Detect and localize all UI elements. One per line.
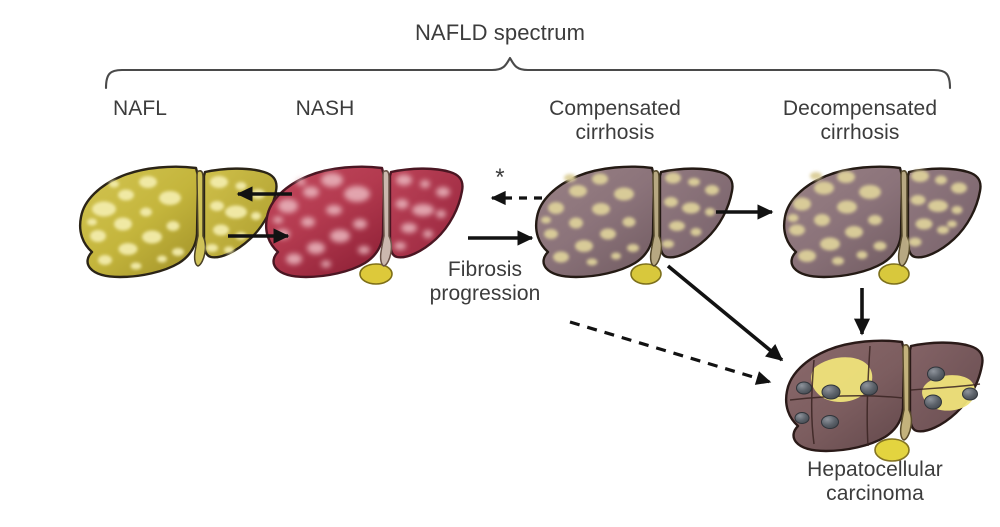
gallbladder [631,264,661,284]
liver-nafl [80,167,276,277]
arrow-compensated-to-hcc [668,266,782,360]
liver-decompensated-cirrhosis [784,167,980,284]
nafld-spectrum-brace [106,58,950,88]
gallbladder [879,264,909,284]
arrow-fibrosis-to-hcc-dashed [570,322,770,382]
nafld-spectrum-figure: NAFLD spectrum NAFL NASH Compensated cir… [0,0,1000,527]
gallbladder [360,264,392,284]
liver-hepatocellular-carcinoma [786,341,982,461]
gallbladder [875,439,909,461]
diagram-graphics [0,0,1000,527]
liver-nash [266,167,462,284]
liver-compensated-cirrhosis [536,167,732,284]
